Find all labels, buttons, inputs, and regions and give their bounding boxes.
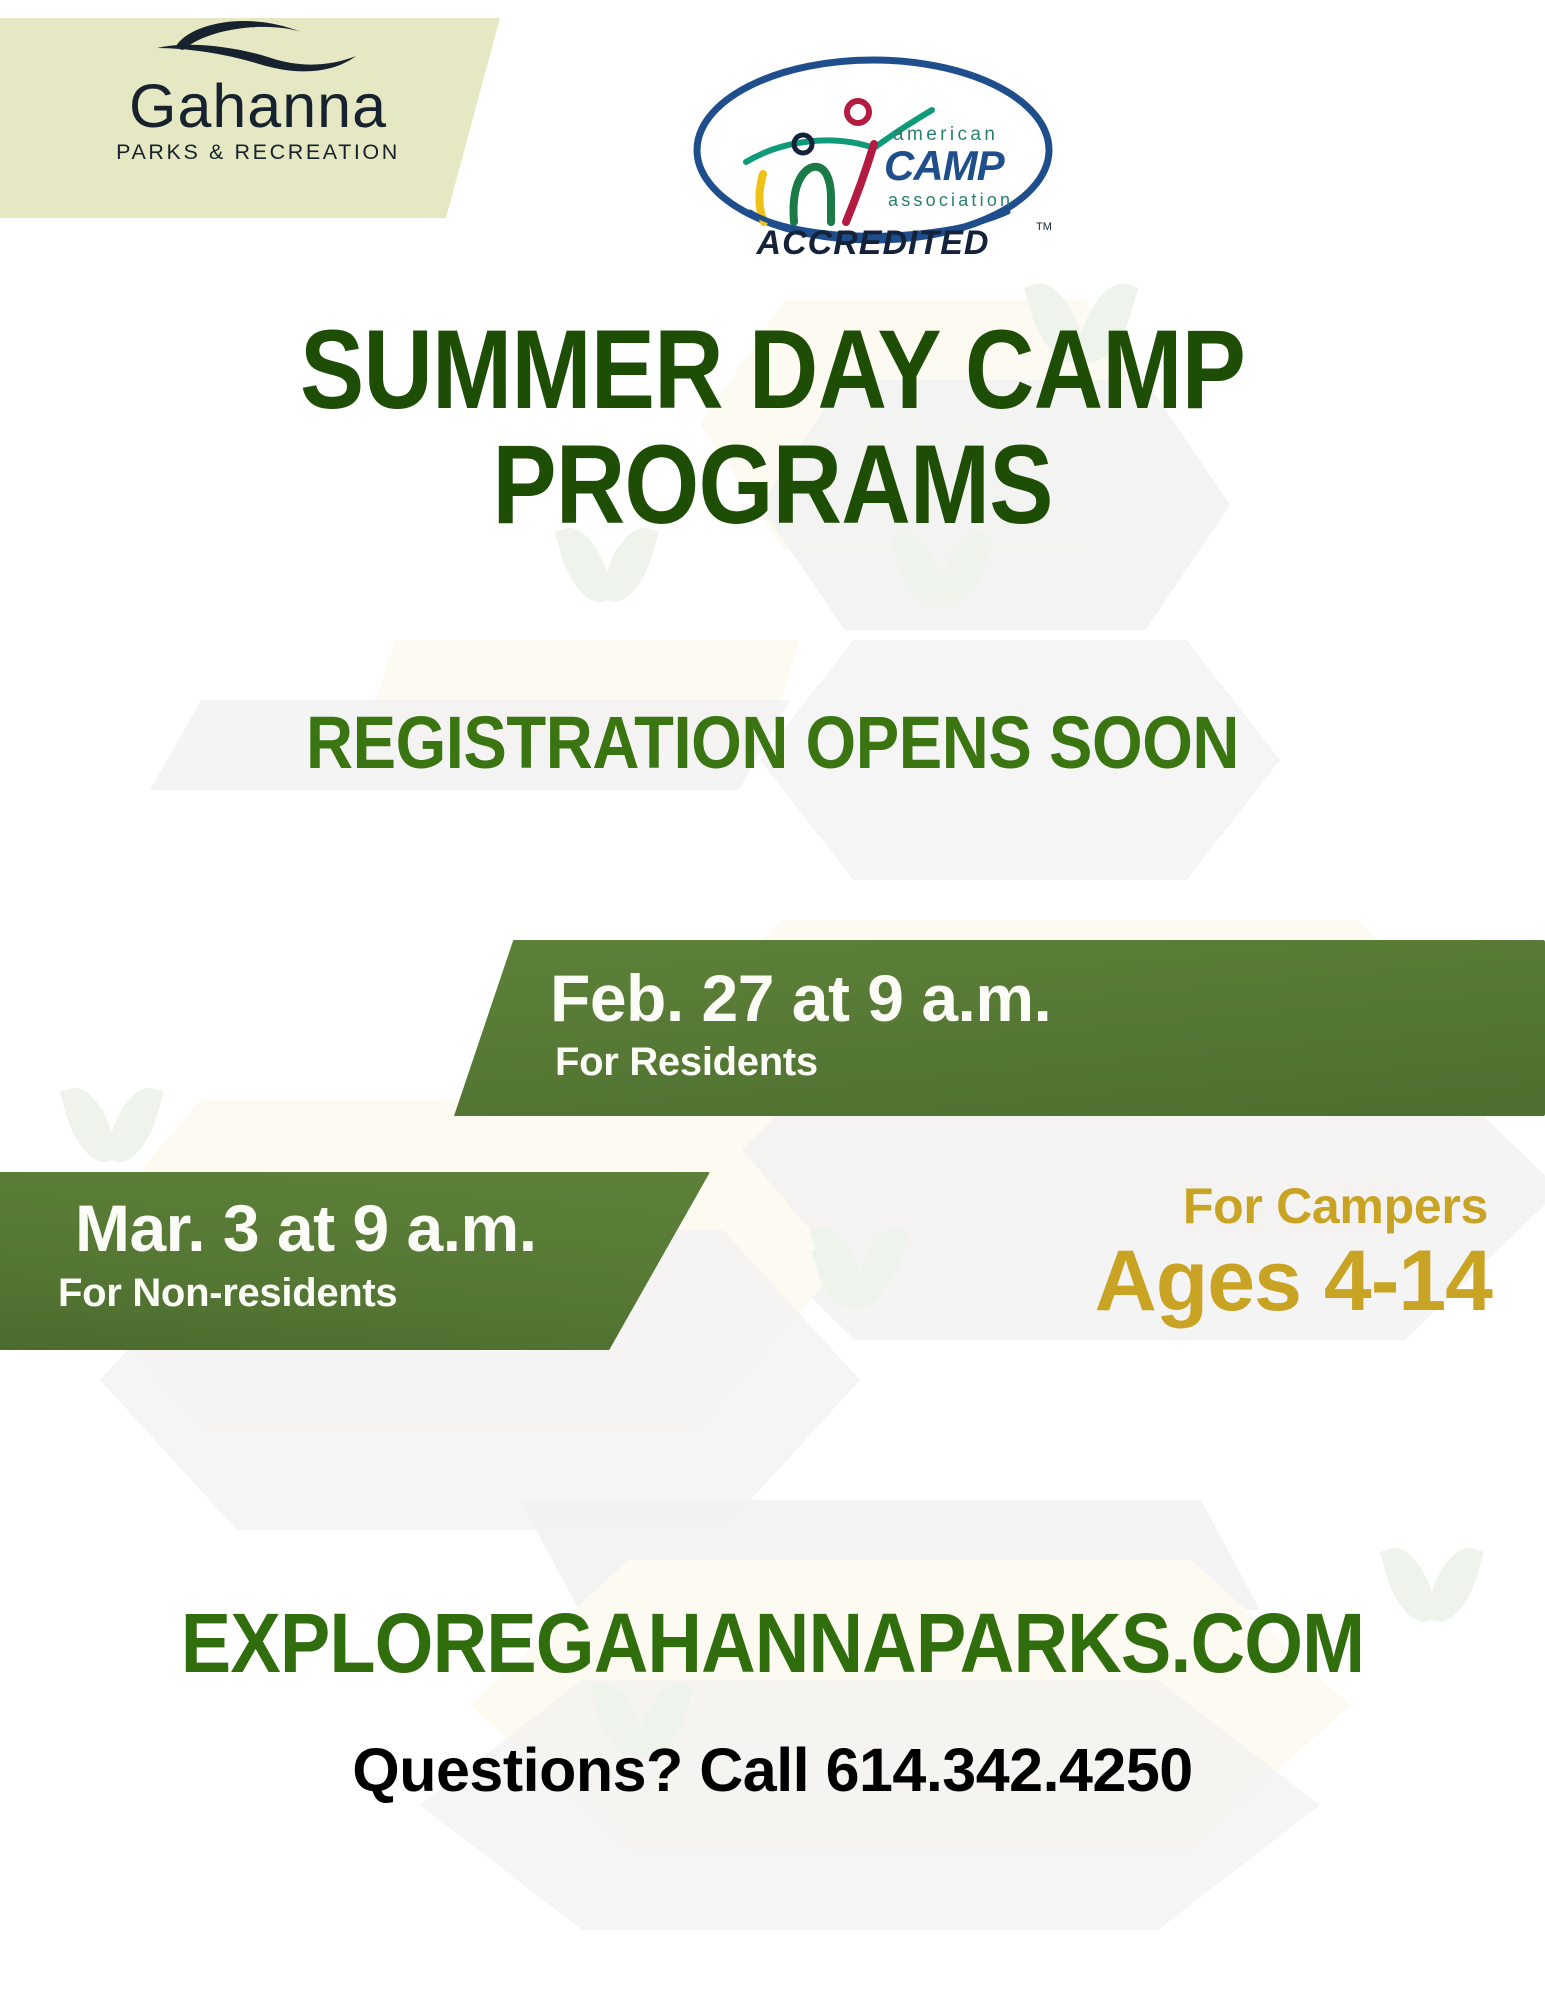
svg-text:association: association	[888, 190, 1013, 210]
page-title: SUMMER DAY CAMP PROGRAMS	[108, 312, 1437, 543]
wave-swoosh-icon	[151, 18, 366, 76]
svg-text:CAMP: CAMP	[884, 142, 1006, 189]
non-resident-registration-banner: Mar. 3 at 9 a.m. For Non-residents	[0, 1172, 710, 1350]
headline-line-2: PROGRAMS	[108, 427, 1437, 542]
gahanna-wordmark: Gahanna	[78, 78, 438, 136]
gahanna-tagline: PARKS & RECREATION	[78, 140, 438, 165]
headline-subtitle: REGISTRATION OPENS SOON	[93, 700, 1453, 785]
campers-info: For Campers Ages 4-14	[700, 1180, 1500, 1327]
headline-line-1: SUMMER DAY CAMP	[108, 312, 1437, 427]
gahanna-logo: Gahanna PARKS & RECREATION	[78, 18, 438, 165]
american-camp-association-accredited-seal-icon: american CAMP association TM ACCREDITED	[688, 52, 1058, 262]
svg-text:TM: TM	[1036, 221, 1052, 233]
campers-age-range: Ages 4-14	[700, 1235, 1500, 1328]
watermark-slab-3	[520, 1500, 1260, 1610]
svg-text:ACCREDITED: ACCREDITED	[756, 224, 990, 262]
resident-date-time: Feb. 27 at 9 a.m.	[550, 960, 1051, 1036]
non-resident-audience-label: For Non-residents	[58, 1271, 397, 1316]
resident-audience-label: For Residents	[555, 1040, 818, 1085]
phone-contact-line[interactable]: Questions? Call 614.342.4250	[0, 1735, 1545, 1805]
non-resident-date-time: Mar. 3 at 9 a.m.	[75, 1190, 537, 1266]
campers-label: For Campers	[700, 1180, 1500, 1233]
summer-day-camp-flyer: Gahanna PARKS & RECREATION american CAMP…	[0, 0, 1545, 2000]
resident-registration-banner: Feb. 27 at 9 a.m. For Residents	[405, 940, 1545, 1116]
watermark-plate-9	[420, 1680, 1320, 1930]
leaf-sprout-icon-4	[70, 1085, 154, 1165]
website-url[interactable]: EXPLOREGAHANNAPARKS.COM	[77, 1595, 1468, 1692]
